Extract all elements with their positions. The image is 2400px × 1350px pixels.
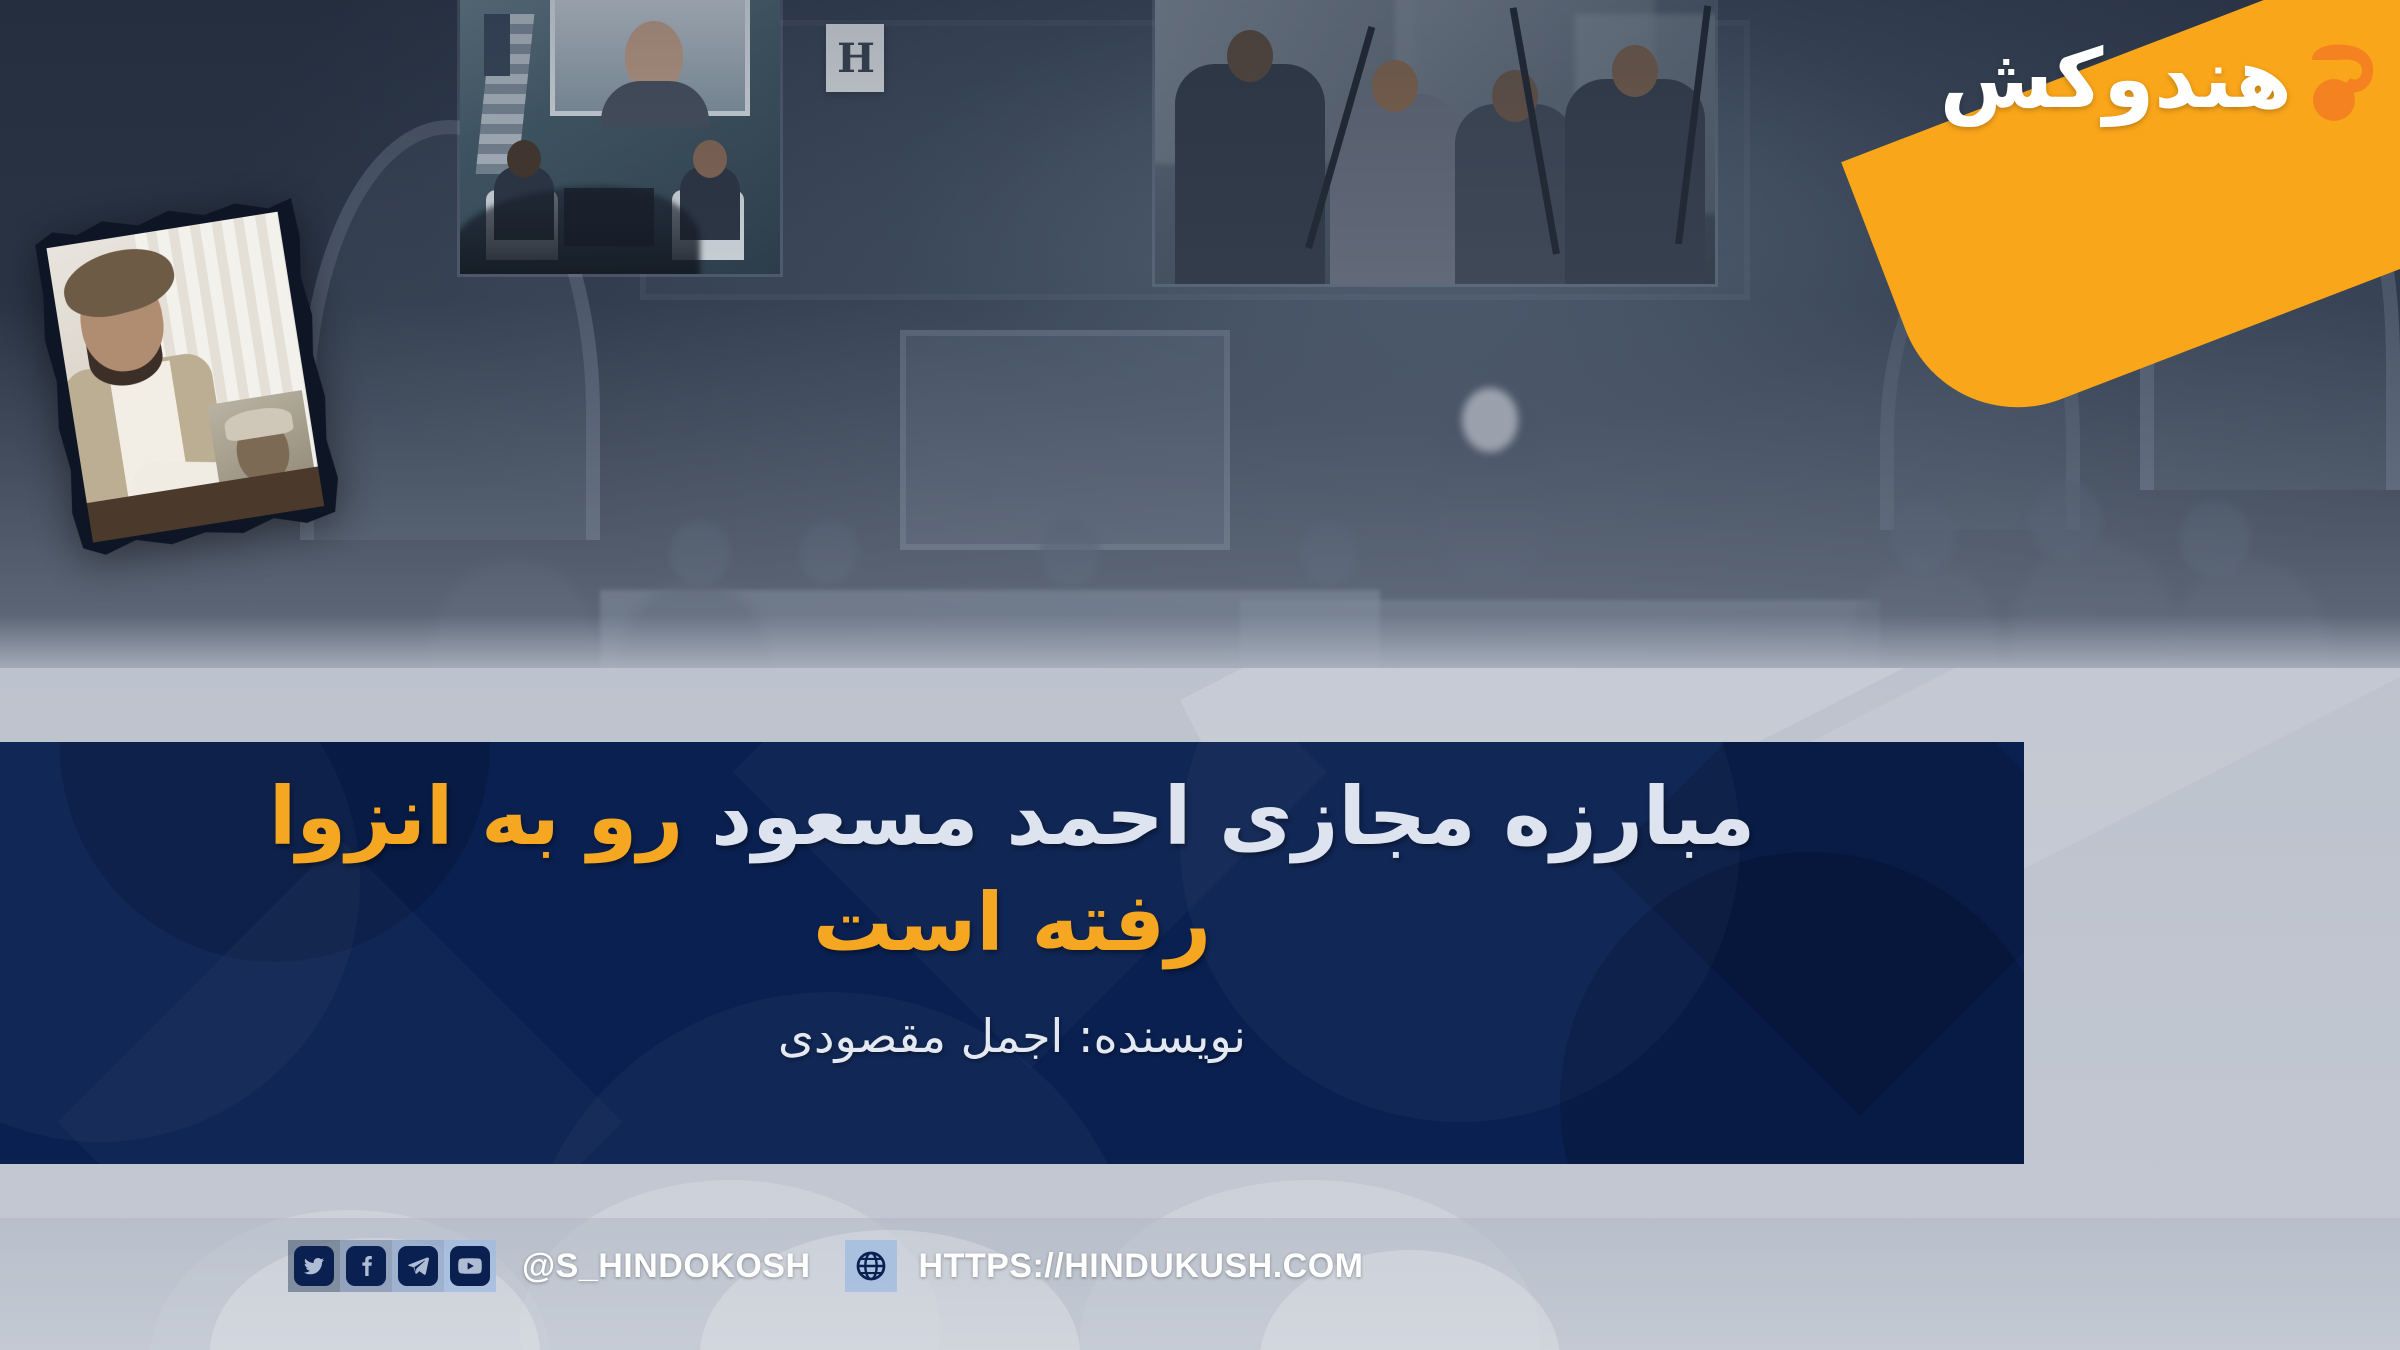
youtube-icon xyxy=(450,1246,490,1286)
facebook-icon xyxy=(346,1246,386,1286)
hindukush-orange-mark-icon xyxy=(2304,38,2382,122)
headline-line-1: مبارزه مجازی احمد مسعود رو به انزوا xyxy=(0,764,2024,870)
news-card: H مبارزه مجازی احمد مسعود رو به ان xyxy=(0,0,2400,1350)
website-link[interactable] xyxy=(845,1240,897,1292)
social-handle: @S_HINDOKOSH xyxy=(522,1247,811,1286)
author-byline: نویسنده: اجمل مقصودی xyxy=(0,1009,2024,1063)
resistance-fighters-photo xyxy=(1155,0,1715,284)
brand-logo-text: هندوکش xyxy=(1940,39,2292,121)
social-link-facebook[interactable] xyxy=(340,1240,392,1292)
telegram-icon xyxy=(398,1246,438,1286)
headline-line-2: رفته است xyxy=(0,870,2024,976)
headline-text-accent: رو به انزوا xyxy=(269,770,683,863)
globe-icon xyxy=(851,1246,891,1286)
ahmad-massoud-portrait-photo xyxy=(28,191,344,559)
headline-panel: مبارزه مجازی احمد مسعود رو به انزوا رفته… xyxy=(0,742,2024,1164)
website-url: HTTPS://HINDUKUSH.COM xyxy=(919,1247,1364,1286)
conference-video-call-photo xyxy=(460,0,780,274)
h-logo-sign: H xyxy=(826,24,884,92)
headline-text-plain: مبارزه مجازی احمد مسعود xyxy=(683,770,1755,863)
headline: مبارزه مجازی احمد مسعود رو به انزوا رفته… xyxy=(0,742,2024,975)
twitter-icon xyxy=(294,1246,334,1286)
social-link-twitter[interactable] xyxy=(288,1240,340,1292)
social-link-telegram[interactable] xyxy=(392,1240,444,1292)
social-links[interactable]: @S_HINDOKOSH HTTPS://HINDUKUSH.COM xyxy=(288,1240,1363,1292)
brand-logo[interactable]: هندوکش xyxy=(1820,20,2400,140)
social-link-youtube[interactable] xyxy=(444,1240,496,1292)
